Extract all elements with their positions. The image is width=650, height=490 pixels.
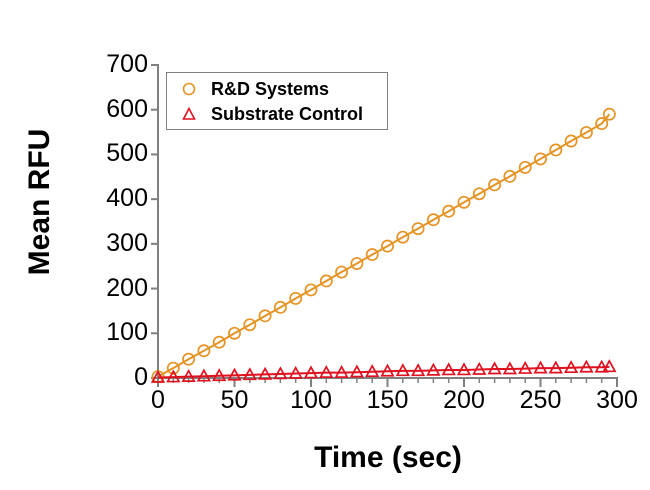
circle-open-icon bbox=[167, 81, 211, 97]
marker-circle bbox=[305, 284, 316, 295]
marker-circle bbox=[604, 109, 615, 120]
marker-circle bbox=[489, 179, 500, 190]
marker-circle bbox=[382, 240, 393, 251]
marker-circle bbox=[428, 214, 439, 225]
marker-circle bbox=[229, 328, 240, 339]
marker-circle bbox=[336, 266, 347, 277]
marker-circle bbox=[535, 153, 546, 164]
marker-circle bbox=[566, 135, 577, 146]
marker-circle bbox=[290, 293, 301, 304]
marker-circle bbox=[596, 118, 607, 129]
series-rnd-systems bbox=[152, 109, 615, 383]
marker-circle bbox=[244, 319, 255, 330]
marker-circle bbox=[275, 302, 286, 313]
data-series-layer bbox=[152, 109, 615, 383]
marker-circle bbox=[183, 354, 194, 365]
chart-figure: Mean RFU Time (sec) 01002003004005006007… bbox=[0, 0, 650, 490]
triangle-open-icon bbox=[167, 106, 211, 122]
legend-item-0: R&D Systems bbox=[167, 77, 387, 101]
marker-circle bbox=[413, 223, 424, 234]
marker-circle bbox=[520, 162, 531, 173]
legend-label-0: R&D Systems bbox=[211, 79, 329, 100]
marker-circle bbox=[504, 171, 515, 182]
marker-circle bbox=[458, 197, 469, 208]
marker-circle bbox=[351, 258, 362, 269]
marker-circle bbox=[550, 144, 561, 155]
marker-circle bbox=[474, 188, 485, 199]
marker-circle bbox=[260, 310, 271, 321]
marker-circle bbox=[321, 275, 332, 286]
marker-circle bbox=[367, 249, 378, 260]
marker-circle bbox=[397, 232, 408, 243]
legend-label-1: Substrate Control bbox=[211, 104, 363, 125]
legend-item-1: Substrate Control bbox=[167, 102, 387, 126]
marker-circle bbox=[443, 206, 454, 217]
marker-circle bbox=[214, 337, 225, 348]
marker-circle bbox=[198, 345, 209, 356]
marker-circle bbox=[581, 127, 592, 138]
chart-legend: R&D Systems Substrate Control bbox=[166, 72, 388, 130]
